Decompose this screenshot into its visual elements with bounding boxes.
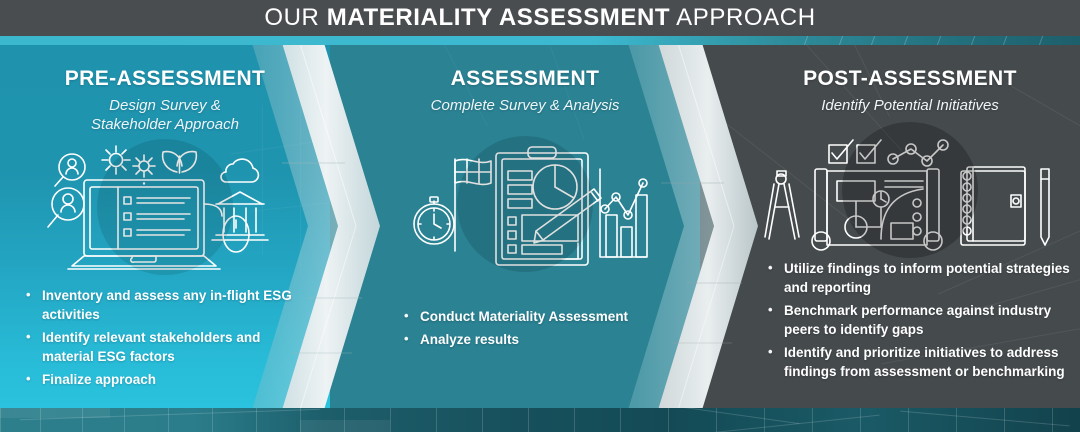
list-item: Inventory and assess any in-flight ESG a…	[26, 286, 296, 324]
page-title: OUR MATERIALITY ASSESSMENT APPROACH	[264, 4, 815, 32]
list-item: Utilize findings to inform potential str…	[768, 259, 1078, 297]
panel3-bullet-list: Utilize findings to inform potential str…	[768, 259, 1078, 381]
list-item: Analyze results	[404, 330, 674, 349]
panel-subtitle-post-assessment: Identify Potential Initiatives	[740, 96, 1080, 115]
header-bar: OUR MATERIALITY ASSESSMENT APPROACH	[0, 0, 1080, 36]
panel1-bullet-list: Inventory and assess any in-flight ESG a…	[26, 286, 296, 389]
list-item: Benchmark performance against industry p…	[768, 301, 1078, 339]
list-item: Finalize approach	[26, 370, 296, 389]
top-accent-strip	[0, 36, 1080, 45]
pen-icon	[1041, 169, 1049, 245]
panel-pre-assessment: PRE-ASSESSMENT Design Survey & Stakehold…	[0, 45, 330, 408]
panel1-illustration	[0, 142, 330, 272]
panel-title-assessment: ASSESSMENT	[360, 67, 690, 91]
panel3-illustration	[740, 127, 1080, 253]
page-title-emphasis: MATERIALITY ASSESSMENT	[327, 4, 670, 31]
list-item: Identify relevant stakeholders and mater…	[26, 328, 296, 366]
panel-title-pre-assessment: PRE-ASSESSMENT	[0, 67, 330, 91]
person-magnifier-icon	[55, 154, 85, 186]
panel-assessment: ASSESSMENT Complete Survey & Analysis	[360, 45, 690, 408]
stopwatch-icon	[414, 197, 454, 244]
compass-divider-icon	[765, 171, 799, 239]
materiality-assessment-infographic: OUR MATERIALITY ASSESSMENT APPROACH	[0, 0, 1080, 432]
list-item: Conduct Materiality Assessment	[404, 307, 674, 326]
list-item: Identify and prioritize initiatives to a…	[768, 343, 1078, 381]
panel2-bullet-list: Conduct Materiality Assessment Analyze r…	[404, 307, 674, 349]
panel-subtitle-line1: Design Survey &	[0, 96, 330, 115]
person-magnifier-icon	[48, 188, 84, 227]
panel-subtitle-assessment: Complete Survey & Analysis	[360, 96, 690, 115]
panel-subtitle-line1: Complete Survey & Analysis	[360, 96, 690, 115]
page-title-suffix: APPROACH	[670, 4, 815, 31]
panel-post-assessment: POST-ASSESSMENT Identify Potential Initi…	[740, 45, 1080, 408]
illustration-disc	[97, 139, 233, 275]
bar-chart-icon	[600, 169, 647, 257]
bottom-accent-strip	[0, 408, 1080, 432]
panel-subtitle-line2: Stakeholder Approach	[0, 115, 330, 134]
panel-subtitle-line1: Identify Potential Initiatives	[740, 96, 1080, 115]
panels-stage: PRE-ASSESSMENT Design Survey & Stakehold…	[0, 45, 1080, 408]
panel-subtitle-pre-assessment: Design Survey & Stakeholder Approach	[0, 96, 330, 134]
illustration-disc	[842, 122, 978, 258]
panel-title-post-assessment: POST-ASSESSMENT	[740, 67, 1080, 91]
panel2-illustration	[360, 139, 690, 269]
illustration-disc	[457, 136, 593, 272]
page-title-prefix: OUR	[264, 4, 326, 31]
